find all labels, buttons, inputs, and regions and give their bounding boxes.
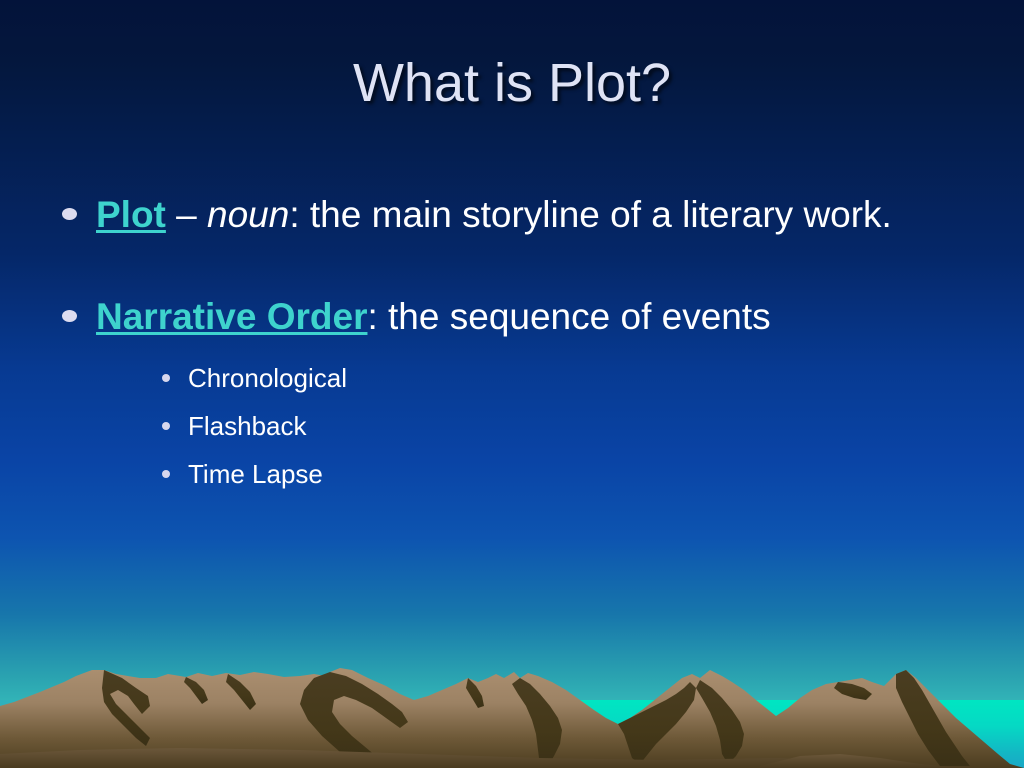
sub-bullet-dot-icon <box>162 470 170 478</box>
list-item: Flashback <box>162 402 986 450</box>
bullet-dot-icon <box>62 208 77 220</box>
keyword-narrative-order: Narrative Order <box>96 296 367 337</box>
mountain-range-graphic <box>0 578 1024 768</box>
sub-bullet-dot-icon <box>162 374 170 382</box>
keyword-plot: Plot <box>96 194 166 235</box>
page-title: What is Plot? <box>0 54 1024 113</box>
bullet-spacer <box>56 238 986 294</box>
slide-canvas: What is Plot? Plot – noun: the main stor… <box>0 0 1024 768</box>
bullet-plot-definition: Plot – noun: the main storyline of a lit… <box>56 192 986 238</box>
bullet-dot-icon <box>62 310 77 322</box>
slide-body: Plot – noun: the main storyline of a lit… <box>56 192 986 498</box>
list-item: Time Lapse <box>162 450 986 498</box>
text-narrative-order: : the sequence of events <box>367 296 770 337</box>
sub-item-label: Time Lapse <box>188 459 323 489</box>
narrative-order-sublist: Chronological Flashback Time Lapse <box>56 354 986 498</box>
list-item: Chronological <box>162 354 986 402</box>
dash-plot: – <box>166 194 207 235</box>
sub-bullet-dot-icon <box>162 422 170 430</box>
sub-item-label: Flashback <box>188 411 307 441</box>
sub-item-label: Chronological <box>188 363 347 393</box>
italic-term-noun: noun <box>207 194 289 235</box>
bullet-narrative-order: Narrative Order: the sequence of events <box>56 294 986 340</box>
text-plot-definition: : the main storyline of a literary work. <box>289 194 892 235</box>
